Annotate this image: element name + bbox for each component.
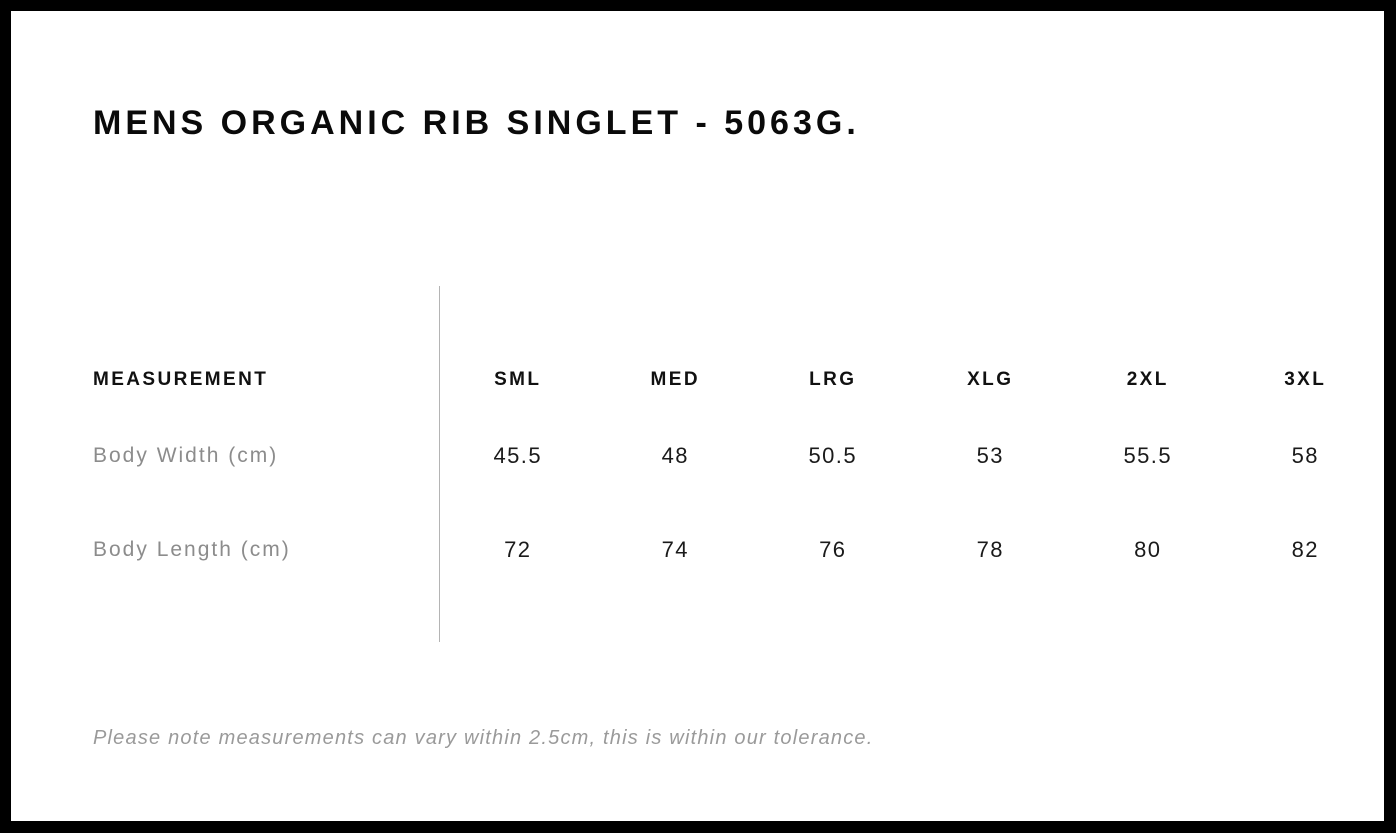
cell-body-length-sml: 72 bbox=[439, 537, 597, 563]
size-chart-canvas: MENS ORGANIC RIB SINGLET - 5063G. MEASUR… bbox=[11, 11, 1384, 821]
header-size-sml: SML bbox=[439, 369, 597, 391]
header-measurement: MEASUREMENT bbox=[11, 369, 439, 391]
cell-body-width-xlg: 53 bbox=[912, 443, 1070, 469]
header-size-lrg: LRG bbox=[754, 369, 912, 391]
table-grid: MEASUREMENT SML MED LRG XLG 2XL 3XL Body… bbox=[11, 351, 1384, 597]
header-size-med: MED bbox=[597, 369, 755, 391]
cell-body-width-med: 48 bbox=[597, 443, 755, 469]
table-header-row: MEASUREMENT SML MED LRG XLG 2XL 3XL bbox=[11, 351, 1384, 409]
size-chart-page: MENS ORGANIC RIB SINGLET - 5063G. MEASUR… bbox=[0, 0, 1396, 833]
size-chart-table: MEASUREMENT SML MED LRG XLG 2XL 3XL Body… bbox=[11, 11, 1384, 821]
header-size-xlg: XLG bbox=[912, 369, 1070, 391]
cell-body-length-med: 74 bbox=[597, 537, 755, 563]
header-size-2xl: 2XL bbox=[1069, 369, 1227, 391]
cell-body-length-lrg: 76 bbox=[754, 537, 912, 563]
row-label-body-width: Body Width (cm) bbox=[11, 444, 439, 468]
cell-body-width-3xl: 58 bbox=[1227, 443, 1385, 469]
cell-body-length-2xl: 80 bbox=[1069, 537, 1227, 563]
cell-body-length-xlg: 78 bbox=[912, 537, 1070, 563]
header-size-3xl: 3XL bbox=[1227, 369, 1385, 391]
cell-body-width-lrg: 50.5 bbox=[754, 443, 912, 469]
row-label-body-length: Body Length (cm) bbox=[11, 538, 439, 562]
cell-body-width-2xl: 55.5 bbox=[1069, 443, 1227, 469]
table-row: Body Width (cm) 45.5 48 50.5 53 55.5 58 bbox=[11, 409, 1384, 503]
tolerance-footnote: Please note measurements can vary within… bbox=[93, 727, 874, 750]
table-row: Body Length (cm) 72 74 76 78 80 82 bbox=[11, 503, 1384, 597]
cell-body-length-3xl: 82 bbox=[1227, 537, 1385, 563]
cell-body-width-sml: 45.5 bbox=[439, 443, 597, 469]
